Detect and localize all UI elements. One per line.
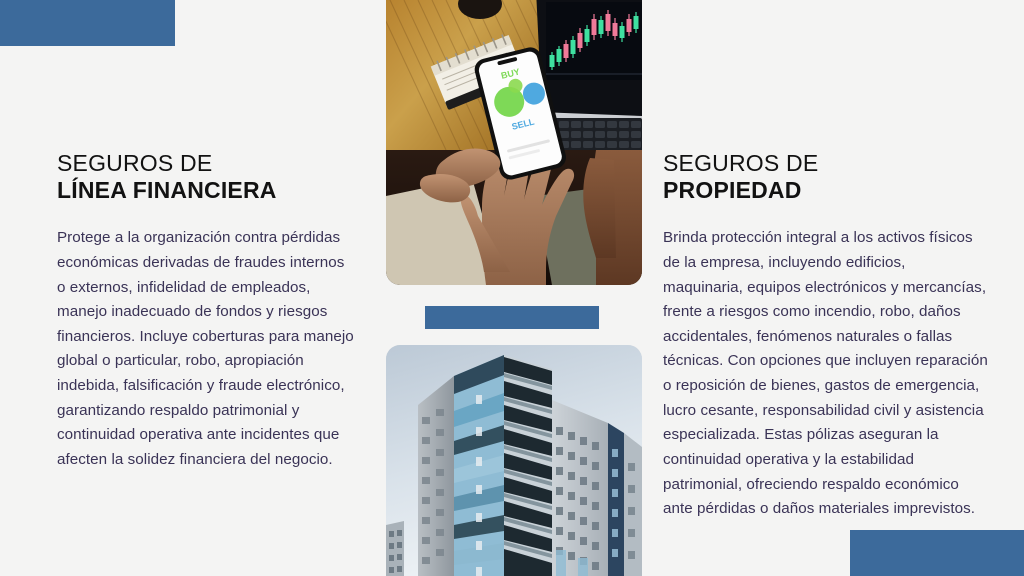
finance-photo-artwork: BUY SELL bbox=[386, 0, 642, 285]
slide-canvas: SEGUROS DE LÍNEA FINANCIERA Protege a la… bbox=[0, 0, 1024, 576]
heading-linea-financiera: SEGUROS DE LÍNEA FINANCIERA bbox=[57, 150, 357, 204]
heading-line-1: SEGUROS DE bbox=[57, 150, 357, 177]
content-column-linea-financiera: SEGUROS DE LÍNEA FINANCIERA Protege a la… bbox=[57, 150, 357, 473]
building-photo-artwork bbox=[386, 345, 642, 576]
body-text-linea-financiera: Protege a la organización contra pérdida… bbox=[57, 226, 357, 472]
finance-photo: BUY SELL bbox=[386, 0, 642, 285]
building-photo bbox=[386, 345, 642, 576]
heading-line-2: LÍNEA FINANCIERA bbox=[57, 177, 357, 204]
decoration-bottom-right-block bbox=[850, 530, 1024, 576]
heading-line-1: SEGUROS DE bbox=[663, 150, 988, 177]
decoration-top-left-block bbox=[0, 0, 175, 46]
body-text-propiedad: Brinda protección integral a los activos… bbox=[663, 226, 988, 522]
heading-line-2: PROPIEDAD bbox=[663, 177, 988, 204]
heading-propiedad: SEGUROS DE PROPIEDAD bbox=[663, 150, 988, 204]
decoration-middle-divider-bar bbox=[425, 306, 599, 329]
content-column-propiedad: SEGUROS DE PROPIEDAD Brinda protección i… bbox=[663, 150, 988, 522]
